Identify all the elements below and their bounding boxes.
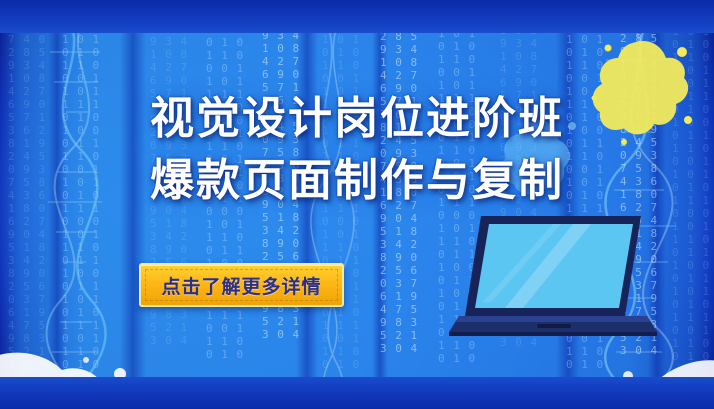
learn-more-button-inner: 点击了解更多详情: [145, 269, 338, 301]
banner-top-edge: [0, 0, 714, 33]
banner-bottom-edge: [0, 377, 714, 409]
learn-more-button[interactable]: 点击了解更多详情: [139, 263, 344, 307]
title-line-2: 爆款页面制作与复制: [0, 150, 714, 212]
laptop-icon: [445, 212, 660, 340]
title-line-1: 视觉设计岗位进阶班: [0, 88, 714, 150]
course-banner: 7 4 0 1 9 3 2 8 5 6 0 1 9 3 4 7 2 5 1 0 …: [0, 0, 714, 409]
learn-more-button-label: 点击了解更多详情: [161, 272, 321, 299]
banner-title: 视觉设计岗位进阶班 爆款页面制作与复制: [0, 88, 714, 212]
